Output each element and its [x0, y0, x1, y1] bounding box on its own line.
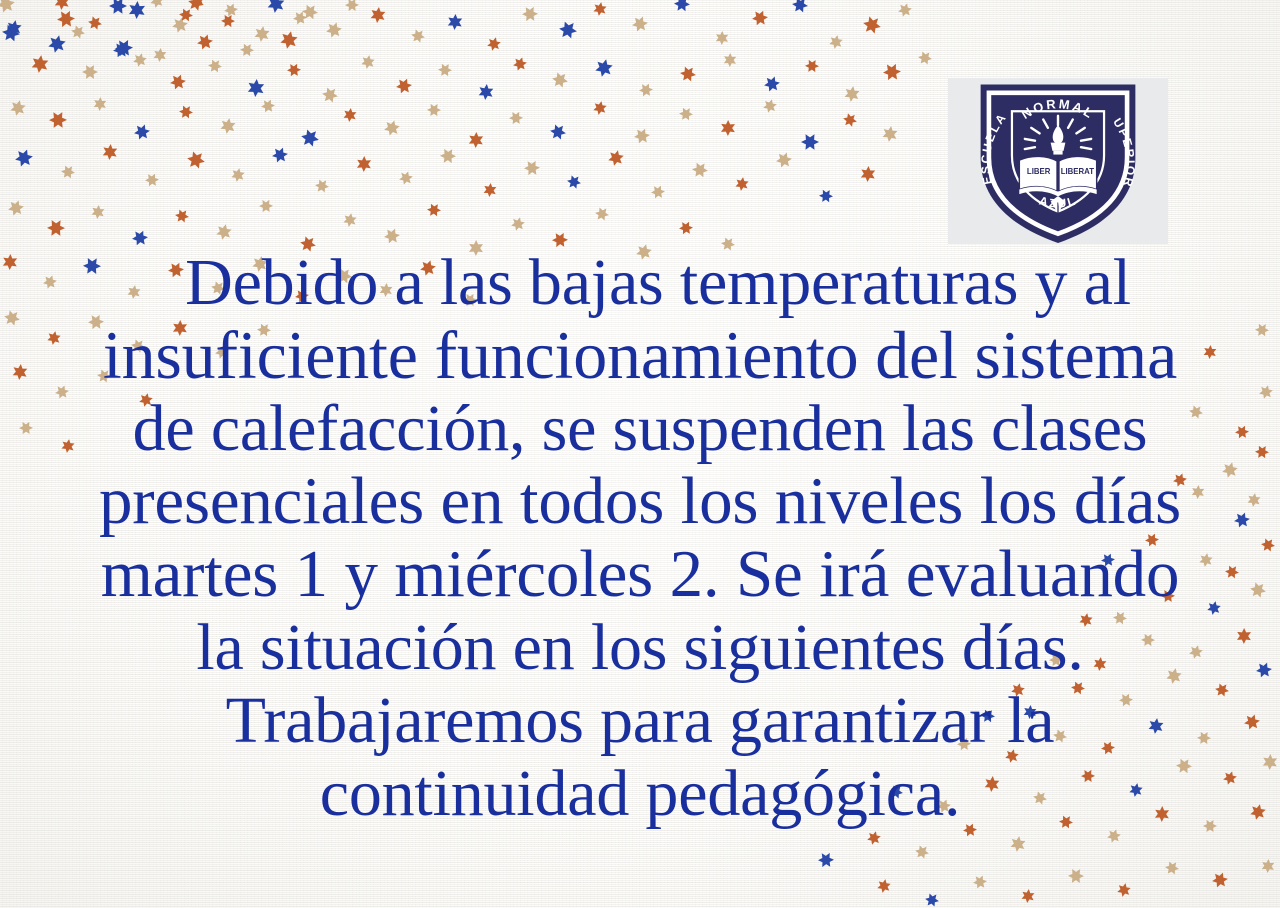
confetti-star-icon — [1210, 870, 1231, 891]
confetti-star-icon — [12, 146, 35, 169]
confetti-star-icon — [435, 60, 454, 79]
confetti-star-icon — [677, 63, 699, 85]
confetti-star-icon — [342, 0, 361, 15]
confetti-star-icon — [677, 219, 696, 238]
confetti-star-icon — [183, 147, 208, 172]
confetti-star-icon — [195, 32, 216, 53]
confetti-star-icon — [482, 182, 497, 197]
confetti-star-icon — [734, 176, 750, 192]
confetti-star-icon — [299, 1, 321, 23]
crest-book-right-label: LIBERAT — [1061, 167, 1094, 176]
crest-book-left-label: LIBER — [1027, 167, 1051, 176]
confetti-star-icon — [509, 215, 526, 232]
confetti-star-icon — [222, 1, 240, 19]
confetti-star-icon — [816, 186, 835, 205]
confetti-star-icon — [93, 97, 108, 112]
announcement-line-8: continuidad pedagógica. — [0, 757, 1280, 830]
confetti-star-icon — [270, 145, 291, 166]
confetti-star-icon — [715, 31, 729, 45]
confetti-star-icon — [880, 60, 904, 84]
confetti-star-icon — [360, 54, 376, 70]
confetti-star-icon — [285, 61, 304, 80]
confetti-star-icon — [131, 51, 148, 68]
confetti-star-icon — [555, 17, 580, 42]
confetti-star-icon — [85, 13, 105, 33]
confetti-star-icon — [54, 7, 78, 31]
confetti-star-icon — [30, 54, 50, 74]
confetti-star-icon — [549, 69, 572, 92]
confetti-star-icon — [798, 130, 823, 155]
confetti-star-icon — [112, 36, 136, 60]
confetti-star-icon — [176, 102, 195, 121]
confetti-star-icon — [168, 72, 189, 93]
confetti-star-icon — [5, 19, 24, 38]
confetti-star-icon — [424, 200, 443, 219]
confetti-star-icon — [46, 33, 68, 55]
confetti-star-icon — [1116, 882, 1133, 899]
announcement-line-6: la situación en los siguientes días. — [0, 611, 1280, 684]
confetti-star-icon — [774, 150, 795, 171]
confetti-star-icon — [356, 156, 373, 173]
confetti-star-icon — [369, 6, 387, 24]
confetti-star-icon — [253, 25, 271, 43]
confetti-star-icon — [259, 97, 277, 115]
confetti-star-icon — [6, 198, 26, 218]
confetti-star-icon — [761, 97, 778, 114]
confetti-star-icon — [859, 12, 884, 37]
confetti-star-icon — [218, 11, 237, 30]
confetti-star-icon — [152, 47, 167, 62]
confetti-star-icon — [922, 890, 942, 908]
confetti-star-icon — [110, 39, 131, 60]
confetti-star-icon — [789, 0, 811, 16]
confetti-star-icon — [876, 878, 893, 895]
confetti-star-icon — [0, 20, 24, 45]
confetti-star-icon — [394, 76, 415, 97]
confetti-star-icon — [237, 40, 256, 59]
announcement-line-3: de calefacción, se suspenden las clases — [0, 392, 1280, 465]
confetti-star-icon — [971, 873, 989, 891]
confetti-star-icon — [172, 206, 192, 226]
confetti-star-icon — [720, 120, 736, 136]
confetti-star-icon — [593, 57, 615, 79]
confetti-star-icon — [859, 165, 876, 182]
confetti-star-icon — [0, 0, 17, 15]
confetti-star-icon — [79, 61, 101, 83]
crest-open-book-icon: LIBER LIBERAT — [1019, 156, 1096, 196]
confetti-star-icon — [762, 74, 783, 95]
confetti-star-icon — [689, 159, 711, 181]
confetti-star-icon — [291, 9, 309, 27]
confetti-star-icon — [592, 204, 612, 224]
confetti-star-icon — [564, 172, 584, 192]
confetti-star-icon — [205, 56, 225, 76]
confetti-star-icon — [185, 0, 208, 14]
confetti-star-icon — [915, 48, 935, 68]
confetti-star-icon — [246, 78, 266, 98]
announcement-line-7: Trabajaremos para garantizar la — [0, 684, 1280, 757]
confetti-star-icon — [58, 162, 78, 182]
escuela-normal-superior-azul-crest-icon: LIBER LIBERAT NORMAL AZUL ESCUELA SUPERI… — [963, 74, 1153, 249]
confetti-star-icon — [53, 0, 70, 11]
confetti-star-icon — [342, 212, 358, 228]
confetti-star-icon — [446, 13, 463, 30]
confetti-star-icon — [519, 3, 541, 25]
confetti-star-icon — [437, 145, 459, 167]
confetti-star-icon — [1162, 858, 1182, 878]
confetti-star-icon — [132, 122, 153, 143]
confetti-star-icon — [408, 26, 428, 46]
announcement-line-2: insuficiente funcionamiento del sistema — [0, 319, 1280, 392]
confetti-star-icon — [382, 118, 402, 138]
confetti-star-icon — [424, 100, 443, 119]
confetti-star-icon — [324, 20, 344, 40]
confetti-star-icon — [676, 104, 695, 123]
confetti-star-icon — [637, 81, 656, 100]
confetti-star-icon — [521, 157, 543, 179]
confetti-star-icon — [1009, 835, 1027, 853]
confetti-star-icon — [312, 176, 332, 196]
announcement-text: Debido a las bajas temperaturas y al ins… — [0, 246, 1280, 830]
confetti-star-icon — [319, 84, 342, 107]
confetti-star-icon — [592, 100, 609, 117]
confetti-star-icon — [606, 148, 625, 167]
confetti-star-icon — [749, 7, 770, 28]
confetti-star-icon — [1261, 859, 1276, 874]
confetti-star-icon — [671, 0, 693, 15]
confetti-star-icon — [1065, 865, 1087, 887]
confetti-star-icon — [128, 1, 147, 20]
confetti-star-icon — [632, 126, 653, 147]
confetti-star-icon — [101, 143, 118, 160]
confetti-star-icon — [507, 109, 526, 128]
confetti-star-icon — [485, 35, 502, 52]
confetti-star-icon — [278, 29, 300, 51]
confetti-star-icon — [189, 0, 206, 9]
confetti-star-icon — [230, 167, 246, 183]
announcement-line-5: martes 1 y miércoles 2. Se irá evaluando — [0, 538, 1280, 611]
confetti-star-icon — [397, 169, 415, 187]
confetti-star-icon — [8, 98, 27, 117]
confetti-star-icon — [68, 22, 88, 42]
confetti-star-icon — [723, 53, 737, 67]
confetti-star-icon — [214, 222, 233, 241]
confetti-star-icon — [592, 1, 608, 17]
confetti-star-icon — [382, 226, 403, 247]
confetti-star-icon — [828, 34, 845, 51]
confetti-star-icon — [881, 125, 899, 143]
confetti-star-icon — [802, 56, 821, 75]
confetti-star-icon — [912, 842, 932, 862]
confetti-star-icon — [90, 204, 106, 220]
confetti-star-icon — [143, 171, 162, 190]
confetti-star-icon — [149, 0, 166, 9]
confetti-star-icon — [297, 125, 322, 150]
confetti-star-icon — [219, 117, 238, 136]
confetti-star-icon — [477, 83, 495, 101]
confetti-star-icon — [843, 85, 861, 103]
announcement-line-1: Debido a las bajas temperaturas y al — [0, 246, 1280, 319]
confetti-star-icon — [896, 1, 914, 19]
confetti-star-icon — [176, 5, 196, 25]
confetti-star-icon — [266, 0, 286, 14]
confetti-star-icon — [840, 110, 860, 130]
confetti-star-icon — [46, 108, 70, 132]
confetti-star-icon — [649, 183, 668, 202]
announcement-line-4: presenciales en todos los niveles los dí… — [0, 465, 1280, 538]
confetti-star-icon — [468, 132, 485, 149]
confetti-star-icon — [865, 829, 882, 846]
confetti-star-icon — [815, 849, 837, 871]
confetti-star-icon — [630, 14, 651, 35]
confetti-star-icon — [106, 0, 131, 18]
confetti-star-icon — [170, 15, 190, 35]
confetti-star-icon — [44, 216, 69, 241]
poster-canvas: LIBER LIBERAT NORMAL AZUL ESCUELA SUPERI… — [0, 0, 1280, 908]
confetti-star-icon — [1020, 888, 1036, 904]
school-logo-panel: LIBER LIBERAT NORMAL AZUL ESCUELA SUPERI… — [948, 78, 1168, 244]
confetti-star-icon — [256, 196, 275, 215]
confetti-star-icon — [342, 107, 358, 123]
confetti-star-icon — [511, 55, 529, 73]
confetti-star-icon — [547, 121, 570, 144]
